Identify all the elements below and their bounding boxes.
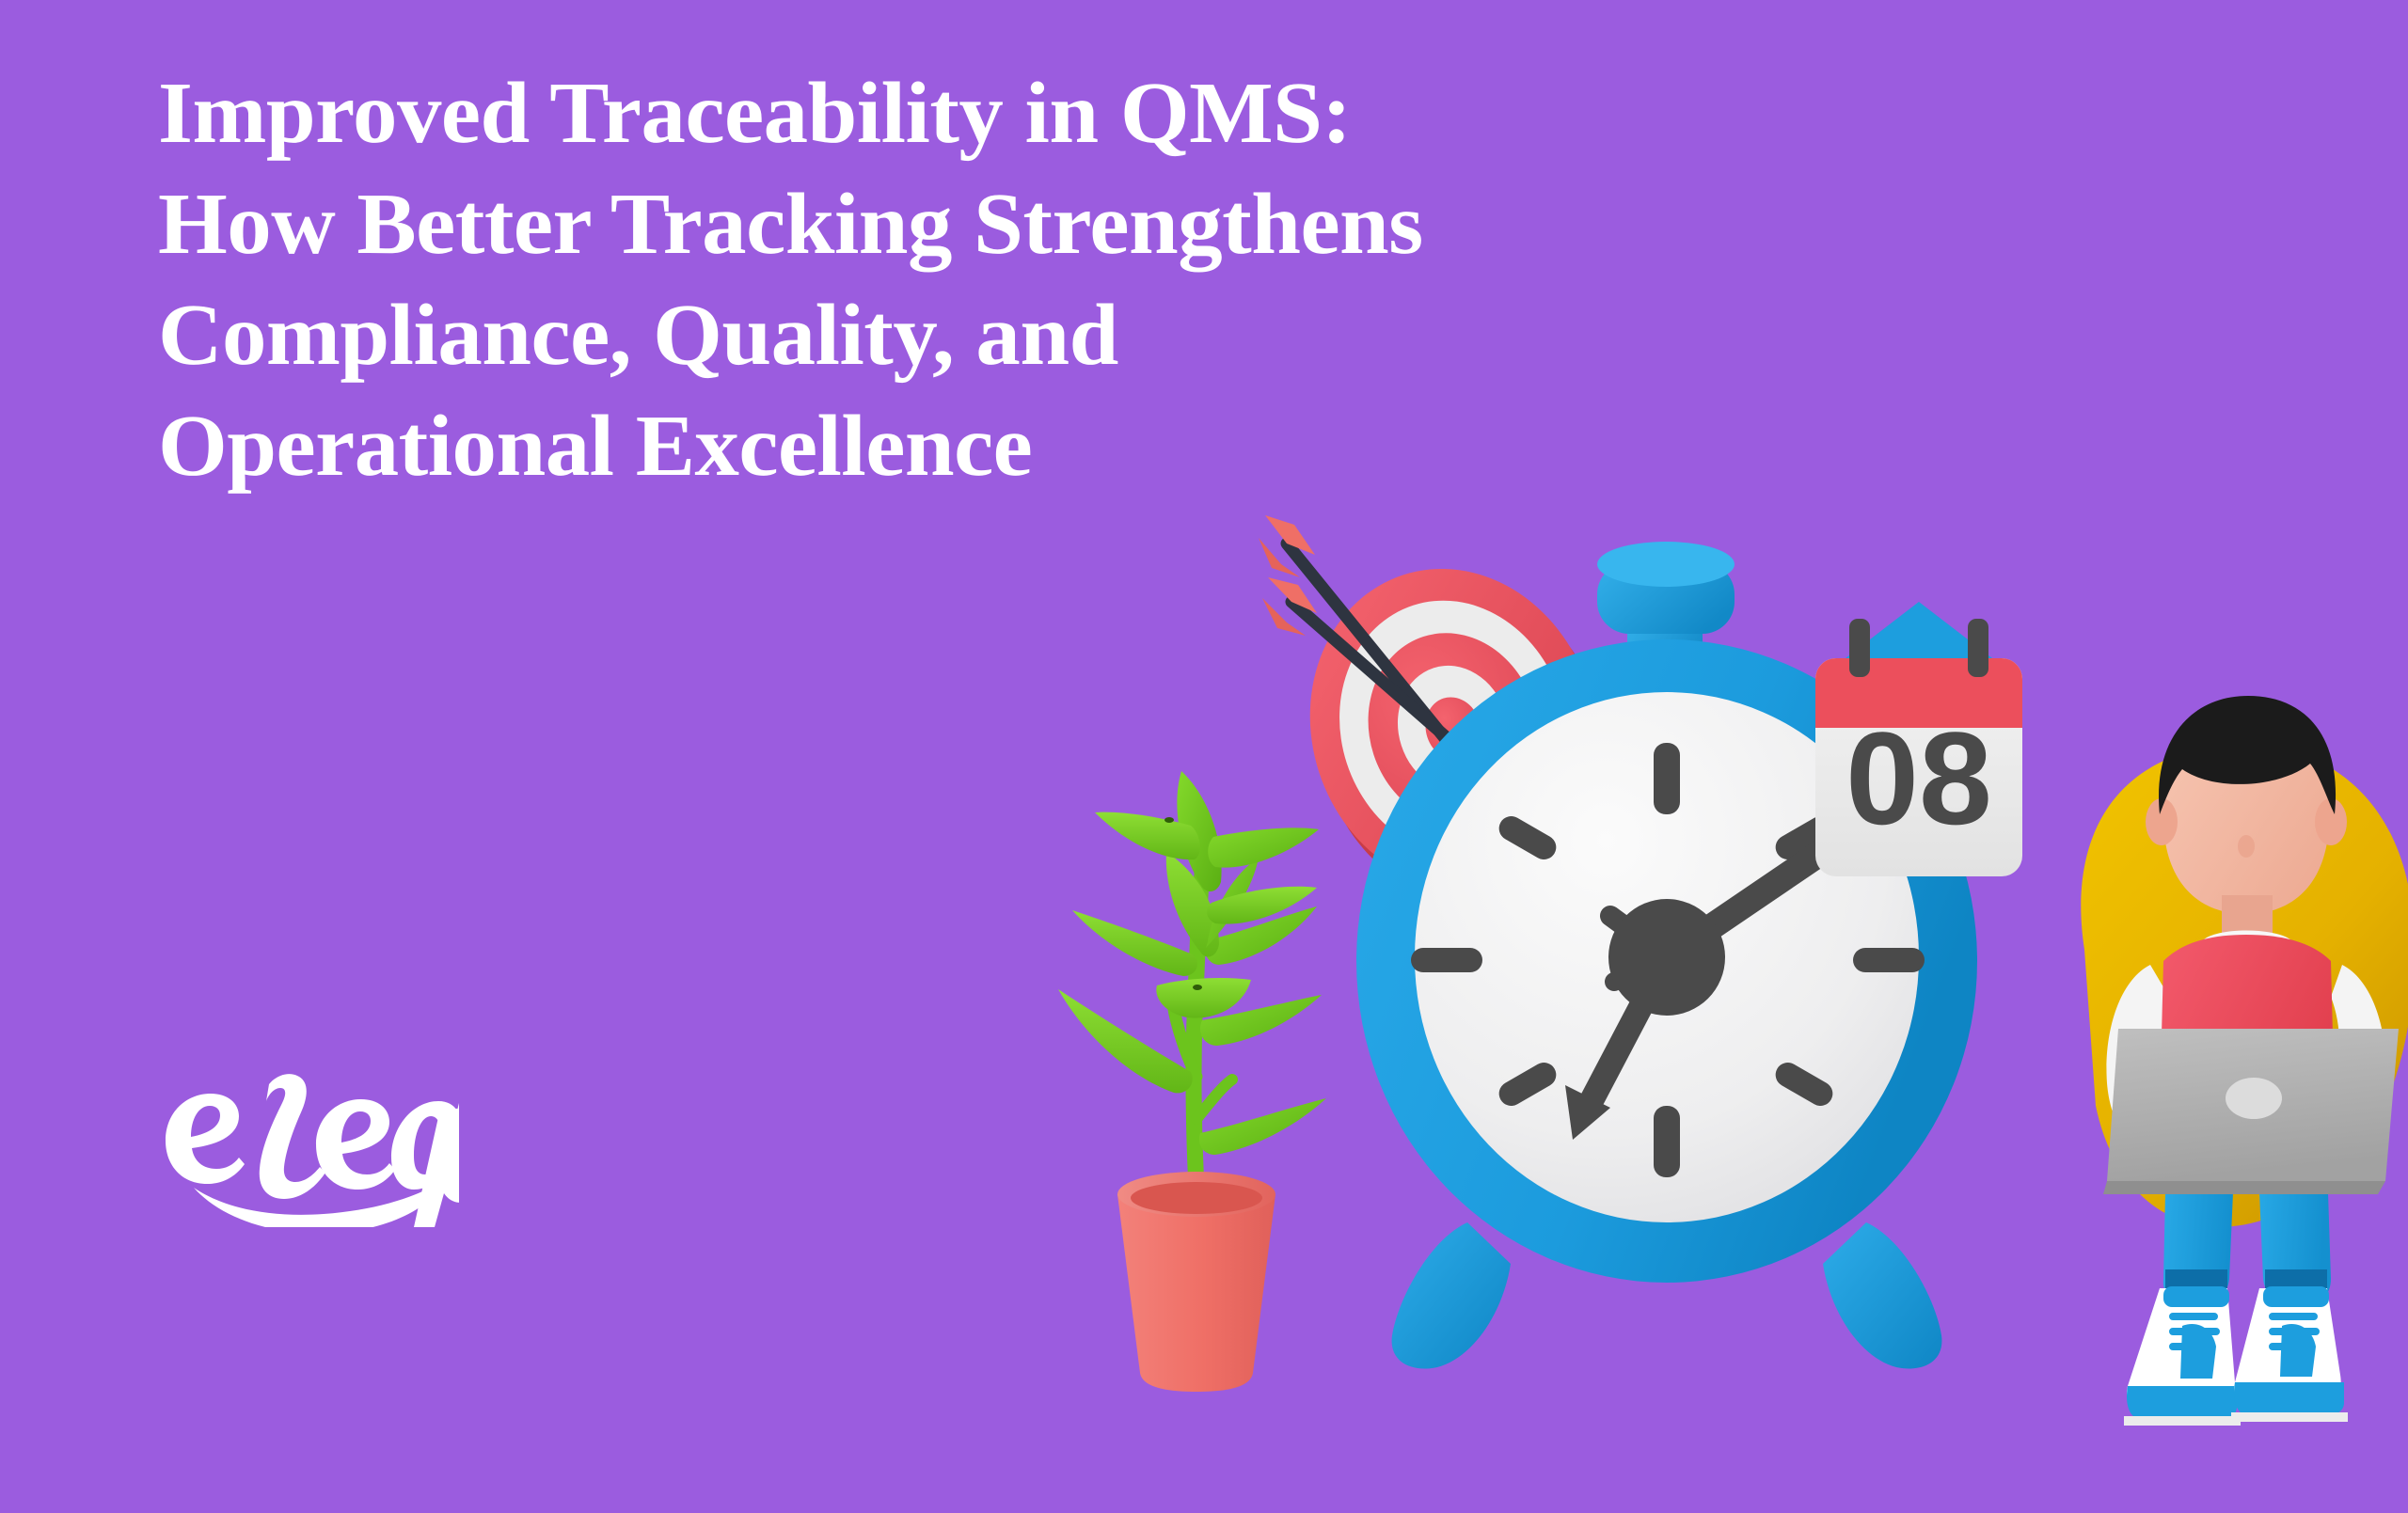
banner-canvas: 08 bbox=[0, 0, 2408, 1513]
eleap-logo[interactable] bbox=[158, 1067, 459, 1227]
title-line-3: Compliance, Quality, and bbox=[158, 280, 1904, 391]
page-title: Improved Traceability in QMS: How Better… bbox=[158, 58, 1870, 502]
arrow-icon bbox=[1259, 515, 1445, 738]
calendar-badge-graphic: 08 bbox=[1815, 602, 2022, 876]
clock-hands bbox=[1565, 811, 1877, 1140]
clock-ticks bbox=[1411, 743, 1925, 1177]
title-line-1: Improved Traceability in QMS: bbox=[158, 58, 1904, 169]
sneaker-right bbox=[2231, 1286, 2348, 1422]
alarm-clock-graphic bbox=[1356, 542, 1977, 1369]
potted-plant-graphic bbox=[1058, 771, 1326, 1392]
title-line-4: Operational Excellence bbox=[158, 391, 1904, 502]
title-line-2: How Better Tracking Strengthens bbox=[158, 169, 1904, 280]
sneaker-left bbox=[2124, 1286, 2241, 1426]
dartboard-target-graphic bbox=[1259, 515, 1647, 940]
calendar-day-number: 08 bbox=[1846, 704, 1992, 852]
person-with-laptop-graphic bbox=[2081, 696, 2408, 1426]
arrow-icon bbox=[1262, 577, 1450, 740]
